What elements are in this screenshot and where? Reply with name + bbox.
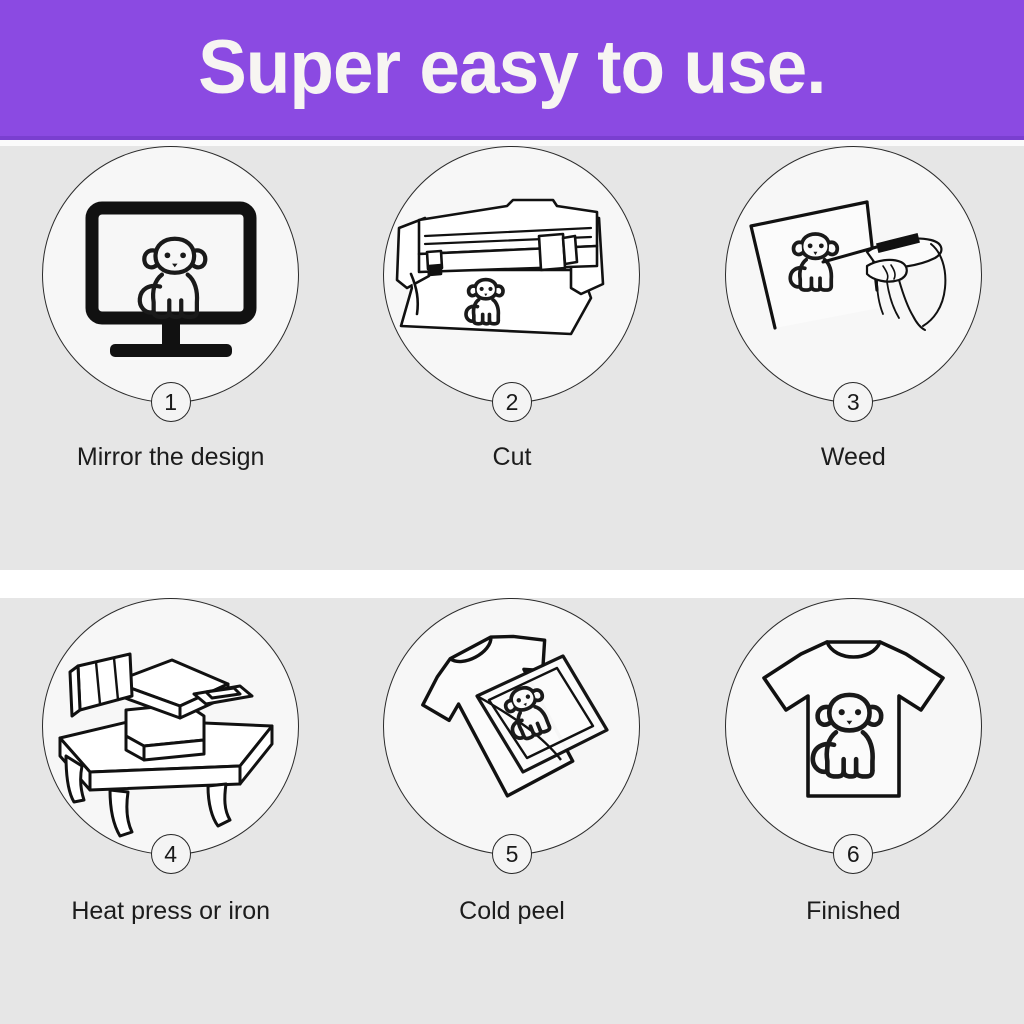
- heat-press-machine-icon: [44, 600, 297, 853]
- step-4-illustration-circle: 4: [42, 598, 299, 855]
- step-label: Weed: [821, 443, 886, 472]
- step-label: Cut: [493, 443, 532, 472]
- step-number-badge: 5: [492, 834, 532, 874]
- step-number-badge: 1: [151, 382, 191, 422]
- steps-row-bottom: 4 Heat press or iron: [0, 598, 1024, 1024]
- step-1-illustration-circle: 1: [42, 146, 299, 403]
- step-6-finished: 6 Finished: [683, 598, 1024, 1024]
- step-label: Heat press or iron: [71, 897, 270, 926]
- vinyl-cutting-machine-icon: [385, 148, 638, 401]
- step-number-badge: 6: [833, 834, 873, 874]
- step-4-heat-press-or-iron: 4 Heat press or iron: [0, 598, 341, 1024]
- step-3-illustration-circle: 3: [725, 146, 982, 403]
- steps-row-top: 1 Mirror the design: [0, 146, 1024, 570]
- step-2-cut: 2 Cut: [341, 146, 682, 570]
- step-6-illustration-circle: 6: [725, 598, 982, 855]
- step-3-weed: 3 Weed: [683, 146, 1024, 570]
- row-divider: [0, 570, 1024, 598]
- step-number-badge: 2: [492, 382, 532, 422]
- step-5-illustration-circle: 5: [383, 598, 640, 855]
- step-label: Finished: [806, 897, 901, 926]
- step-5-cold-peel: 5 Cold peel: [341, 598, 682, 1024]
- finished-tshirt-with-dog-icon: [727, 600, 980, 853]
- tshirt-with-transfer-sheet-peel-icon: [385, 600, 638, 853]
- step-number-badge: 4: [151, 834, 191, 874]
- page-title: Super easy to use.: [198, 30, 825, 106]
- step-label: Cold peel: [459, 897, 565, 926]
- step-label: Mirror the design: [77, 443, 265, 472]
- step-number-badge: 3: [833, 382, 873, 422]
- step-1-mirror-the-design: 1 Mirror the design: [0, 146, 341, 570]
- computer-monitor-with-dog-design-icon: [44, 148, 297, 401]
- step-2-illustration-circle: 2: [383, 146, 640, 403]
- hand-with-weeding-tool-icon: [727, 148, 980, 401]
- header-banner: Super easy to use.: [0, 0, 1024, 139]
